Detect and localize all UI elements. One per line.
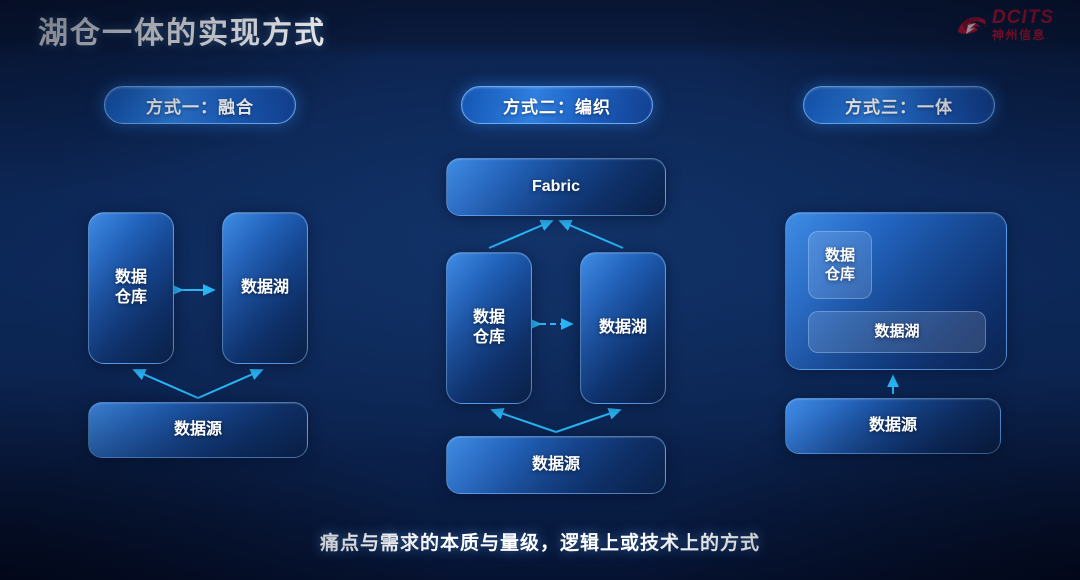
col3-container-box[interactable]: 数据 仓库 数据湖 — [785, 212, 1007, 370]
col3-lake-label: 数据湖 — [874, 322, 919, 341]
logo-text-en: DCITS — [992, 8, 1054, 28]
method-pill-1[interactable]: 方式一：融合 — [104, 86, 296, 124]
col3-source-box[interactable]: 数据源 — [785, 398, 1001, 454]
col3-lake-box[interactable]: 数据湖 — [808, 311, 986, 353]
col2-source-label: 数据源 — [532, 455, 580, 475]
col2-lake-box[interactable]: 数据湖 — [580, 252, 666, 404]
col2-lake-label: 数据湖 — [599, 318, 647, 338]
company-logo: DCITS 神州信息 — [954, 6, 1066, 50]
col3-warehouse-box[interactable]: 数据 仓库 — [808, 231, 872, 299]
logo-text: DCITS 神州信息 — [992, 8, 1054, 43]
col1-lake-label: 数据湖 — [241, 278, 289, 298]
col3-warehouse-label: 数据 仓库 — [825, 246, 855, 284]
page-title: 湖仓一体的实现方式 — [38, 8, 326, 52]
col2-warehouse-box[interactable]: 数据 仓库 — [446, 252, 532, 404]
col1-lake-box[interactable]: 数据湖 — [222, 212, 308, 364]
col2-source-box[interactable]: 数据源 — [446, 436, 666, 494]
dcits-swirl-icon — [954, 12, 988, 42]
method-pill-3[interactable]: 方式三：一体 — [803, 86, 995, 124]
method-pill-2[interactable]: 方式二：编织 — [461, 86, 653, 124]
footer-caption: 痛点与需求的本质与量级，逻辑上或技术上的方式 — [0, 528, 1080, 555]
col1-source-label: 数据源 — [174, 420, 222, 440]
col1-warehouse-box[interactable]: 数据 仓库 — [88, 212, 174, 364]
col2-fabric-label: Fabric — [532, 177, 580, 197]
col2-fabric-box[interactable]: Fabric — [446, 158, 666, 216]
col1-warehouse-label: 数据 仓库 — [115, 268, 147, 309]
col2-warehouse-label: 数据 仓库 — [473, 308, 505, 349]
col1-source-box[interactable]: 数据源 — [88, 402, 308, 458]
col3-source-label: 数据源 — [869, 416, 917, 436]
logo-text-cn: 神州信息 — [992, 28, 1054, 43]
